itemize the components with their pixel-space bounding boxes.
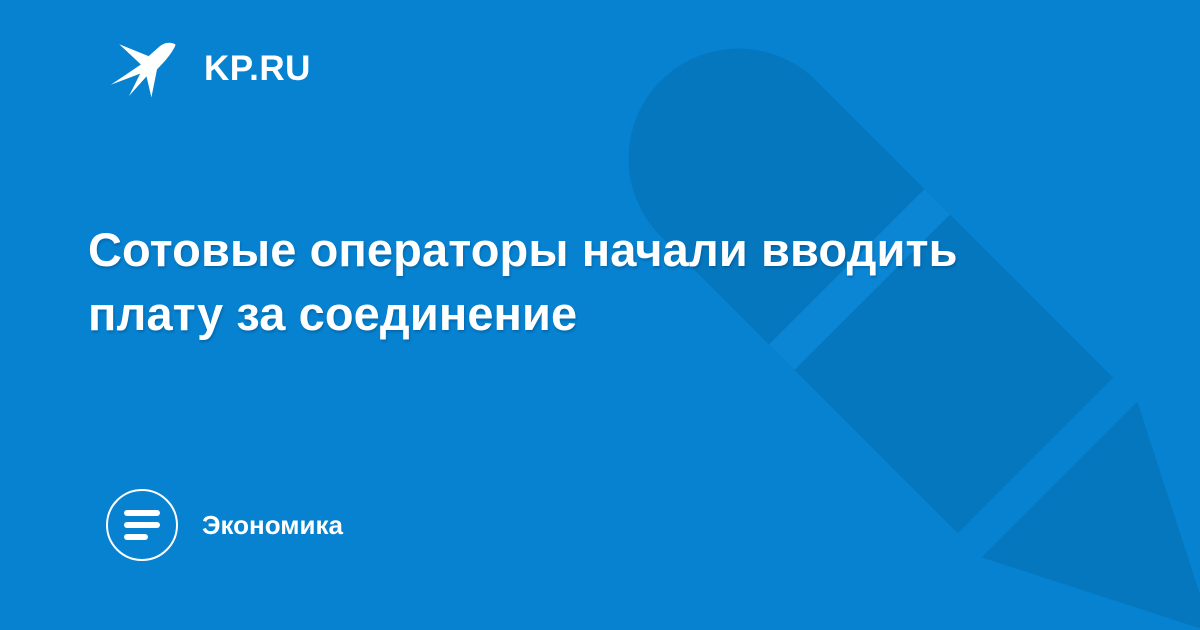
rubric-label: Экономика bbox=[202, 512, 343, 538]
hamburger-lines-icon[interactable] bbox=[106, 489, 178, 561]
rubric[interactable]: Экономика bbox=[106, 489, 343, 561]
brand-header[interactable]: KP.RU bbox=[108, 36, 311, 100]
brand-name: KP.RU bbox=[204, 51, 311, 86]
page-title: Сотовые операторы начали вводить плату з… bbox=[88, 218, 988, 346]
hamburger-line-1 bbox=[124, 510, 160, 516]
social-share-card: KP.RU Сотовые операторы начали вводить п… bbox=[0, 0, 1200, 630]
swallow-bird-icon bbox=[108, 33, 178, 103]
hamburger-line-3 bbox=[124, 534, 148, 540]
hamburger-line-2 bbox=[124, 522, 160, 528]
